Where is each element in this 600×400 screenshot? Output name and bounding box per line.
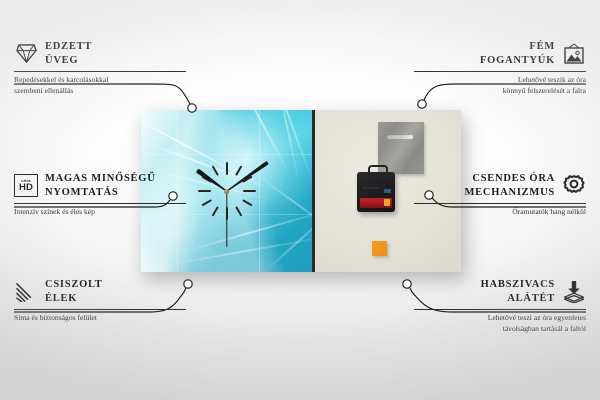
hanger-slot <box>387 134 413 139</box>
feature-foam-spacer: HABSZIVACS ALÁTÉT Lehetővé teszi az óra … <box>414 278 586 334</box>
hanger-loop <box>368 165 388 176</box>
feature-title-line2: ÉLEK <box>45 292 103 306</box>
feature-description: Sima és biztonságos felület <box>14 313 186 323</box>
feature-metal-handles: FÉM FOGANTYÚK Lehetővé teszik az óra kön… <box>414 40 586 96</box>
ultra-hd-icon: ultra HD <box>14 174 38 198</box>
feature-title-line1: EDZETT <box>45 40 92 54</box>
feature-description: Lehetővé teszik az óra könnyű felszerelé… <box>414 75 586 96</box>
second-hand <box>226 191 227 247</box>
feature-title-line2: FOGANTYÚK <box>480 54 555 68</box>
quartz-mechanism <box>357 172 395 212</box>
product-image <box>141 110 461 272</box>
feature-title-line1: HABSZIVACS <box>481 278 555 292</box>
feature-high-quality-print: ultra HD MAGAS MINŐSÉGŰ NYOMTATÁS Intenz… <box>14 172 186 218</box>
feature-title-line2: NYOMTATÁS <box>45 186 156 200</box>
feature-title-line2: MECHANIZMUS <box>464 186 555 200</box>
hour-hand <box>196 168 228 193</box>
feature-title-line1: MAGAS MINŐSÉGŰ <box>45 172 156 186</box>
gear-icon <box>562 174 586 198</box>
hand-center-cap <box>224 189 229 194</box>
feature-divider <box>414 309 586 310</box>
picture-frame-hanging-icon <box>562 42 586 66</box>
battery <box>360 198 392 208</box>
feature-divider <box>14 309 186 310</box>
foam-spacer-pad <box>372 241 387 256</box>
battery-terminal <box>384 199 390 206</box>
mechanism-dial <box>384 189 391 193</box>
feature-title-line1: CSISZOLT <box>45 278 103 292</box>
product-infographic: EDZETT ÜVEG Repedésekkel és karcolásokka… <box>0 0 600 400</box>
arrow-onto-pad-icon <box>562 280 586 304</box>
feature-description: Óramutatók hang nélkül <box>414 207 586 217</box>
feature-divider <box>414 71 586 72</box>
feature-description: Repedésekkel és karcolásokkal szembeni e… <box>14 75 186 96</box>
feature-divider <box>414 203 586 204</box>
feature-title-line1: FÉM <box>480 40 555 54</box>
feature-silent-mechanism: CSENDES ÓRA MECHANIZMUS Óramutatók hang … <box>414 172 586 218</box>
feature-divider <box>14 71 186 72</box>
feature-tempered-glass: EDZETT ÜVEG Repedésekkel és karcolásokka… <box>14 40 186 96</box>
feature-title-line2: ALÁTÉT <box>481 292 555 306</box>
diamond-icon <box>14 42 38 66</box>
diagonal-lines-icon <box>14 280 38 304</box>
feature-description: Lehetővé teszi az óra egyenletes távolsá… <box>414 313 586 334</box>
feature-polished-edges: CSISZOLT ÉLEK Sima és biztonságos felüle… <box>14 278 186 324</box>
minute-hand <box>226 161 269 193</box>
feature-title-line1: CSENDES ÓRA <box>464 172 555 186</box>
feature-description: Intenzív színek és éles kép <box>14 207 186 217</box>
feature-divider <box>14 203 186 204</box>
mechanism-groove <box>362 187 379 189</box>
feature-title-line2: ÜVEG <box>45 54 92 68</box>
hd-label: HD <box>19 183 33 193</box>
